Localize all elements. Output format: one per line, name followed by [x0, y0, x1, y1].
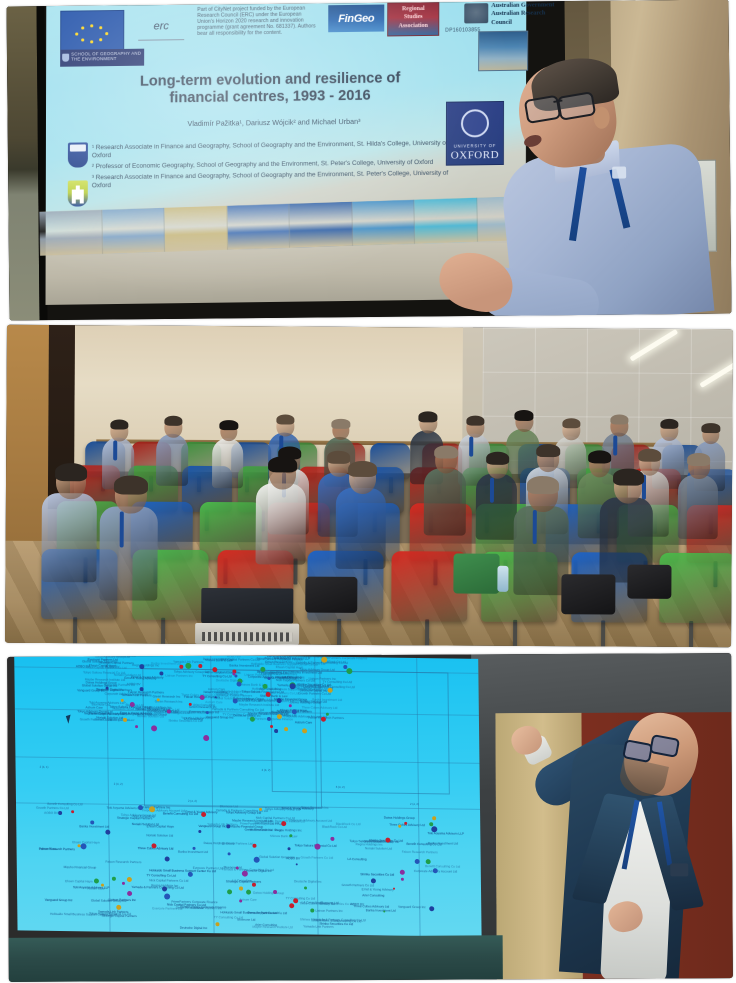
skyline-frame [227, 204, 290, 250]
diagram-node-label: Regna Holdings Inc [275, 829, 302, 833]
diagram-node [267, 677, 270, 680]
projected-network-slide: 2 (4, 1)2 (4, 2)2 (4, 2)2 (4, 2)3 (4, 2)… [14, 653, 481, 937]
audience-member-hair [434, 445, 458, 458]
audience-member-hair [348, 461, 377, 477]
diagram-axis-tick: 3 (4, 2) [336, 785, 345, 789]
diagram-node [188, 871, 193, 876]
audience-member-lanyard [469, 436, 473, 456]
diagram-node [281, 821, 286, 826]
skyline-frame [164, 206, 227, 252]
diagram-node-label: Falcon Research Partners [105, 860, 141, 864]
diagram-node-label: Evercore Partners Ltd [105, 683, 135, 687]
diagram-node-label: Growth Partners Co Ltd [301, 856, 334, 860]
diagram-node-label: Three Cubes Advisory Ltd [389, 823, 425, 827]
panel-network-slide: 2 (4, 1)2 (4, 2)2 (4, 2)2 (4, 2)3 (4, 2)… [7, 653, 733, 982]
diagram-node [331, 837, 335, 841]
audience-member-hair [588, 450, 612, 463]
diagram-node-label: Daiwa Holdings Group [253, 892, 284, 896]
diagram-node-label: Nick Capital Partners Co Ltd [149, 879, 188, 883]
diagram-node-label: AOBO BV [105, 665, 119, 669]
diagram-node [293, 899, 298, 904]
speaker-badge [612, 167, 626, 179]
audience-member-hair [613, 468, 644, 485]
laptop [201, 588, 293, 645]
australian-government-logo: Australian Government Australian Researc… [464, 1, 560, 28]
diagram-node [152, 843, 157, 848]
diagram-node [193, 847, 196, 850]
diagram-node-label: Growth Partners Co Ltd [36, 807, 69, 811]
diagram-node-label: Barika Investment Ltd [178, 851, 208, 855]
diagram-node [149, 806, 155, 812]
diagram-node [252, 882, 256, 886]
diagram-node-label: Toki Aoyama Advisors LLP [428, 832, 465, 836]
diagram-node [287, 848, 290, 851]
diagram-node-label: Daiwa Holdings Group [203, 658, 234, 662]
diagram-node-label: Shinko Securities Co Ltd [360, 873, 394, 877]
audience-member-hair [110, 419, 129, 429]
diagram-node-label: Falcon Research Partners [39, 847, 75, 851]
diagram-node-label: Bluenose Ltd [224, 866, 242, 870]
diagram-node-label: Astrum Care [208, 688, 225, 692]
diagram-node [128, 891, 133, 896]
audience-member-hair [702, 423, 720, 433]
diagram-node-label: Maybe Research Institute Ltd [252, 925, 292, 929]
diagram-node [432, 816, 436, 820]
diagram-node-label: Falcon Research Partners [402, 851, 438, 855]
audience-member-hair [688, 453, 711, 466]
diagram-node [121, 698, 124, 701]
photo-collage: SCHOOL OF GEOGRAPHY AND THE ENVIRONMENT … [0, 0, 736, 983]
diagram-node [112, 877, 116, 881]
diagram-node-label: Ernst & Young Advisory [282, 807, 314, 811]
diagram-node-label: Astrum Care [239, 898, 256, 902]
diagram-node-label: Astrum Care [295, 722, 312, 726]
audience-member-hair [562, 418, 581, 428]
audience-member-hair [466, 416, 485, 426]
audience-member-torso [156, 434, 189, 486]
diagram-node [393, 888, 395, 890]
diagram-node [58, 811, 62, 815]
diagram-node [292, 709, 297, 714]
skyline-frame [102, 208, 165, 254]
diagram-node [199, 830, 202, 833]
diagram-node-label: Mizuho Financial Group [64, 866, 97, 870]
diagram-node-label: Global Solution Group Inc [91, 899, 126, 903]
diagram-node-label: Yamada & Partners Consulting Co Ltd [131, 886, 183, 890]
seat-leg [337, 619, 341, 647]
diagram-node-label: TY Consulting Co Ltd [258, 672, 287, 676]
laptop-base [196, 623, 299, 645]
audience-member-hair [114, 475, 148, 494]
diagram-axis-tick: 2 (4, 2) [188, 799, 197, 803]
diagram-node-label: Yamada Link Partners [144, 653, 174, 655]
seat-leg [513, 620, 517, 647]
diagram-node [151, 725, 157, 731]
erc-logo: erc [132, 11, 190, 42]
diagram-node-label: BlackRock Co Ltd [267, 655, 292, 659]
diagram-node-label: Benefit Consulting Co Ltd [406, 842, 441, 846]
diagram-node [254, 857, 260, 863]
seat-leg [601, 620, 605, 647]
skyline-frame [414, 198, 477, 244]
diagram-node-label: Liaison Partners Inc [309, 678, 336, 682]
diagram-node [400, 870, 405, 875]
diagram-node [371, 879, 376, 884]
diagram-node-label: Astrum Care [87, 887, 104, 891]
diagram-node [239, 900, 242, 903]
grant-code: DP160103855 [445, 27, 480, 33]
diagram-node-label: Evercore Partners Ltd [152, 907, 182, 911]
diagram-node-label: Barika Investment Ltd [79, 826, 109, 830]
diagram-node [267, 717, 271, 721]
oxford-university-label: UNIVERSITY OF [447, 143, 503, 149]
diagram-node-label: Shinko Securities Co Ltd [142, 653, 176, 657]
diagram-node [235, 867, 238, 870]
diagram-node [105, 686, 108, 689]
diagram-node-label: Strategic Capital Partners [117, 817, 152, 821]
oxford-name-label: OXFORD [447, 149, 503, 162]
diagram-node-label: PrimePartners Corporate Finance [180, 905, 226, 909]
diagram-node-label: Three Cubes Advisory Ltd [354, 905, 390, 909]
diagram-axis-tick: 2 (4, 2) [262, 768, 271, 772]
audience-member-hair [55, 463, 87, 481]
diagram-node [429, 822, 433, 826]
audience-member-torso [424, 468, 466, 535]
diagram-node [135, 725, 138, 728]
diagram-node [228, 853, 231, 856]
diagram-node [236, 681, 241, 686]
diagram-node [77, 844, 80, 847]
diagram-node-label: BlackRock Co Ltd [336, 823, 361, 827]
diagram-node [157, 698, 160, 701]
diagram-node [159, 671, 163, 675]
audience-member-hair [536, 444, 560, 457]
diagram-node [252, 844, 256, 848]
diagram-node [179, 665, 183, 669]
audience-member-hair [220, 420, 238, 430]
diagram-node [321, 716, 326, 721]
diagram-node-label: Deutsche Digital Inc [244, 870, 272, 874]
diagram-node-label: Barika Investment Ltd [151, 662, 181, 666]
diagram-node-label: Maybe Research Institute Ltd [232, 820, 272, 824]
diagram-node-label: Noriaki Solution Ltd [146, 834, 173, 838]
audience-member-lanyard [613, 435, 617, 455]
school-of-geography-logo: SCHOOL OF GEOGRAPHY AND THE ENVIRONMENT [60, 49, 144, 67]
diagram-node [346, 668, 352, 674]
audience-member-hair [328, 451, 351, 464]
diagram-node [310, 908, 314, 912]
diagram-node-label: Daiwa Holdings Group [204, 842, 235, 846]
diagram-node-label: TY Consulting Co Ltd [146, 874, 175, 878]
diagram-axis-tick: 2 (4, 1) [40, 765, 49, 769]
seat-leg [161, 618, 165, 647]
diagram-node-label: LA Consulting [347, 858, 366, 862]
audience-member-torso [256, 483, 306, 564]
panel-title-slide: SCHOOL OF GEOGRAPHY AND THE ENVIRONMENT … [7, 0, 732, 320]
audience-member-hair [486, 452, 510, 465]
diagram-node-label: Vanguard Group Inc [45, 899, 73, 903]
diagram-node-label: Noriaki Solution Ltd [365, 847, 392, 851]
diagram-node-label: Tokyo Advisory Group Ltd [226, 812, 261, 816]
laptop-keyboard [202, 632, 293, 642]
oxford-seal-icon [461, 109, 489, 137]
diagram-node-label: Shinko Securities Co Ltd [319, 923, 353, 927]
diagram-node [432, 826, 438, 832]
oxford-logo: UNIVERSITY OF OXFORD [446, 101, 504, 166]
bag [561, 574, 615, 614]
diagram-node-label: LA Consulting [115, 713, 134, 717]
audience-member-lanyard [113, 440, 117, 460]
handbag [453, 554, 499, 594]
speaker-ear [594, 107, 610, 129]
diagram-node-label: Tokyo Sakura Financial Co Ltd [83, 672, 125, 676]
bag [305, 577, 357, 613]
diagram-node-label: Benefit Consulting Co Ltd [163, 813, 198, 817]
diagram-node-label: LA Consulting [302, 901, 321, 905]
fingeo-logo: FinGeo [328, 5, 384, 33]
sge-crest-icon [62, 54, 69, 62]
audience-member-torso [41, 493, 97, 582]
diagram-node [227, 889, 232, 894]
diagram-node-label: Yamada Link Partners [121, 694, 151, 698]
diagram-node [80, 843, 86, 849]
seat-leg [73, 617, 77, 647]
diagram-node-label: Ernst & Young Advisory [362, 888, 394, 892]
diagram-node-label: Astrum Care [205, 701, 222, 705]
diagram-node-label: Bluenose Ltd [220, 805, 238, 809]
affiliation-3: ³ Research Associate in Finance and Geog… [92, 170, 452, 191]
school-of-geography-label: SCHOOL OF GEOGRAPHY AND THE ENVIRONMENT [71, 51, 141, 62]
diagram-node [430, 906, 435, 911]
affiliation-1: ¹ Research Associate in Finance and Geog… [92, 140, 452, 161]
aus-gov-line-2: Australian Research Council [491, 10, 561, 28]
diagram-node [289, 834, 292, 837]
regional-studies-association-logo: Regional Studies Association [387, 2, 439, 37]
diagram-node-label: Growth Partners Co Ltd [298, 692, 331, 696]
audience-member-torso [335, 488, 385, 569]
seat-leg [425, 619, 429, 647]
diagram-node [289, 903, 294, 908]
diagram-node [327, 688, 332, 693]
diagram-node-label: Green Research Inc [189, 706, 217, 710]
australian-coat-of-arms-icon [464, 3, 488, 23]
diagram-node [276, 698, 281, 703]
diagram-axis-tick: 2 (4, 2) [410, 802, 419, 806]
diagram-node [105, 830, 110, 835]
diagram-node [259, 808, 262, 811]
diagram-node-label: Noriaki Solution Ltd [132, 823, 159, 827]
audience-member-hair [660, 419, 679, 429]
harbour-photo [478, 31, 528, 72]
diagram-node [295, 863, 297, 865]
water-bottle [497, 566, 508, 592]
diagram-node [162, 887, 167, 892]
diagram-node [203, 735, 209, 741]
diagram-node-label: Benefit Consulting Co Ltd [425, 865, 460, 869]
diagram-node-label: Liaison Partners Inc [165, 675, 192, 679]
diagram-node [383, 911, 385, 913]
diagram-node-label: Tokyo Advisory Group Ltd [299, 668, 334, 672]
diagram-node-label: Growth Partners Co Ltd [342, 884, 375, 888]
diagram-node [401, 878, 404, 881]
audience-member-hair [638, 449, 662, 462]
bag [627, 565, 671, 599]
mouse-cursor-icon [66, 715, 73, 724]
slide-authors: Vladimír Pažitka¹, Dariusz Wójcik² and M… [74, 115, 474, 129]
diagram-node-label: Yamada Link Partners [98, 911, 128, 915]
diagram-node-label: Yamada Link Partners [207, 823, 237, 827]
diagram-node-label: Corporate Advisory Account Ltd [289, 819, 332, 823]
audience-member-torso [99, 507, 158, 601]
audience-member-hair [164, 416, 183, 426]
diagram-node-label: Yamada & Partners Consulting Co Ltd [83, 655, 135, 659]
diagram-node-label: Deutsche Digital Inc [294, 880, 322, 884]
st-peters-crest-icon [68, 180, 88, 206]
screen-bottom-frame [9, 935, 503, 982]
audience-member-hair [527, 476, 559, 494]
diagram-node [164, 894, 170, 900]
diagram-node [127, 877, 132, 882]
diagram-node-label: Ehsan Capital Hayn [65, 880, 92, 884]
diagram-node [284, 727, 288, 731]
audience-member-lanyard [119, 512, 123, 548]
diagram-node-label: Noriaki Solution Ltd [137, 715, 164, 719]
eu-flag-icon [60, 10, 124, 53]
audience-member-hair [332, 419, 350, 429]
slide-title: Long-term evolution and resilience of fi… [70, 69, 470, 107]
funding-disclaimer: Part of CityNet project funded by the Eu… [197, 5, 319, 37]
diagram-node-label: Barika Investment Ltd [312, 699, 342, 703]
st-hildas-crest-icon [68, 142, 88, 167]
diagram-node [198, 664, 202, 668]
diagram-node [94, 878, 99, 883]
diagram-node [250, 716, 255, 721]
diagram-node-label: Shinwa Bank & Law [300, 919, 328, 923]
diagram-node-label: PrimePartners Corporate Finance [171, 900, 217, 904]
diagram-node [101, 883, 104, 886]
diagram-node-label: Deutsche Digital Inc [180, 926, 208, 930]
diagram-node-label: AOBO BV [44, 812, 58, 816]
diagram-node [215, 922, 219, 926]
skyline-frame [39, 210, 102, 256]
diagram-node-label: Liaison Partners Inc [143, 806, 170, 810]
diagram-node-label: AOBO BV [76, 665, 90, 669]
diagram-node [246, 890, 251, 895]
audience-member-torso [476, 474, 517, 540]
panel-audience [5, 325, 733, 647]
diagram-node-label: AOBO BV [286, 857, 300, 861]
diagram-node [116, 905, 121, 910]
audience-member-hair [268, 456, 297, 472]
diagram-node [385, 837, 390, 842]
audience-member-hair [418, 411, 437, 422]
diagram-node-label: Vanguard Group Inc [398, 905, 426, 909]
diagram-node-label: TY Consulting Co Ltd [214, 916, 243, 920]
diagram-node-label: Benefit Consulting Co Ltd [47, 803, 82, 807]
diagram-node [185, 662, 191, 668]
diagram-node [326, 712, 329, 715]
eu-stars [75, 24, 109, 42]
diagram-node [415, 859, 420, 864]
diagram-node-label: Arier Consulting [362, 895, 384, 899]
diagram-node-label: Tokyo Advisory Group Ltd [77, 710, 112, 714]
diagram-node-label: PrimePartners Corporate Finance [321, 657, 367, 661]
diagram-node-label: Regna Holdings Inc [93, 653, 120, 655]
speaker2-name-badge [670, 863, 688, 876]
diagram-node-label: Bluenose Ltd [92, 703, 110, 707]
slide-affiliations: ¹ Research Associate in Finance and Geog… [92, 140, 452, 194]
diagram-node [398, 825, 401, 828]
diagram-node-label: LA Consulting [184, 718, 203, 722]
audience-member-lanyard [490, 477, 494, 502]
audience-member-hair [514, 410, 533, 421]
skyline-frame [352, 200, 415, 246]
audience-member-lanyard [532, 510, 536, 544]
diagram-node [71, 810, 74, 813]
diagram-axis-tick: 2 (4, 2) [114, 782, 123, 786]
audience-member-hair [276, 414, 295, 424]
diagram-node-label: Daiwa Holdings Group [384, 816, 415, 820]
diagram-node [122, 882, 125, 885]
diagram-node-label: Global Solution Group Inc [82, 660, 117, 664]
room-wall-left [7, 6, 40, 320]
diagram-node-label: Ehsan Capital Hayn [276, 666, 303, 670]
audience-member-torso [678, 475, 718, 539]
diagram-node [239, 887, 243, 891]
diagram-node-label: Maybe Research Institute Ltd [239, 704, 279, 708]
diagram-node [304, 886, 307, 889]
audience-member-hair [610, 414, 629, 424]
skyline-frame [289, 202, 352, 248]
diagram-node [201, 812, 206, 817]
australian-government-text: Australian Government Australian Researc… [491, 1, 561, 27]
seat-leg [689, 621, 693, 647]
diagram-node-label: LA Consulting [150, 653, 169, 655]
diagram-node [165, 856, 170, 861]
laptop-lid [201, 588, 293, 623]
diagram-node [242, 870, 248, 876]
diagram-node-label: Green Research Inc [245, 828, 273, 832]
rsa-line-3: Association [388, 21, 438, 30]
diagram-node-label: Ernst & Young Advisory [246, 699, 278, 703]
diagram-node [315, 844, 321, 850]
diagram-node-label: Barika Investment Ltd [366, 909, 396, 913]
diagram-node-label: Deutsche Digital Inc [96, 688, 124, 692]
audience-member-torso [212, 438, 243, 489]
diagram-node-label: Shinwa Bank & Law [270, 835, 298, 839]
diagram-node-label: Liaison Partners Inc [315, 910, 342, 914]
